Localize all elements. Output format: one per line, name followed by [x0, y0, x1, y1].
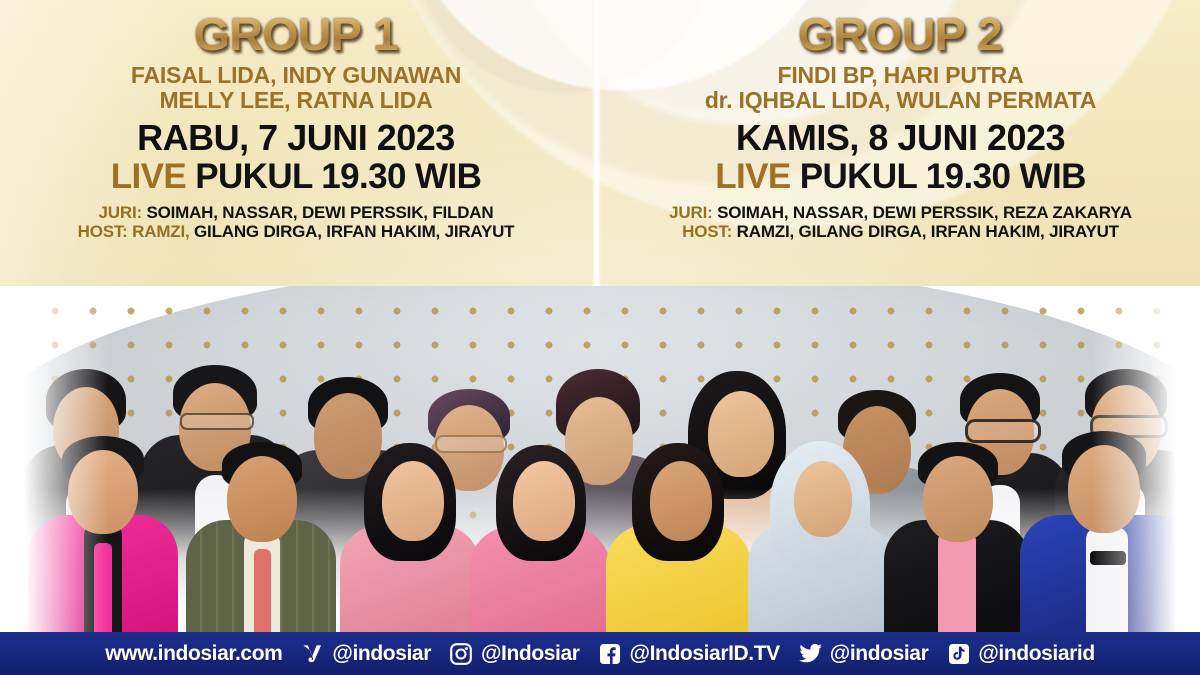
- panel-divider: [592, 0, 601, 291]
- footer-website[interactable]: www.indosiar.com: [105, 642, 282, 666]
- group-2-time: PUKUL 19.30 WIB: [791, 157, 1086, 196]
- footer-website-label: www.indosiar.com: [105, 642, 282, 666]
- group-2-members-line-1: FINDI BP, HARI PUTRA: [705, 63, 1096, 88]
- cast-member-photo: [470, 437, 610, 635]
- tiktok-icon: [946, 641, 971, 666]
- group-1-date: RABU, 7 JUNI 2023: [137, 118, 455, 158]
- cast-member-photo: [1020, 423, 1200, 635]
- cast-member-photo: [748, 435, 893, 635]
- group-2-date: KAMIS, 8 JUNI 2023: [736, 118, 1065, 158]
- group-2-juri-label: JURI:: [669, 203, 712, 222]
- cast-face: [382, 461, 444, 541]
- cast-member-photo: [884, 430, 1029, 635]
- cast-member-photo: [340, 435, 480, 635]
- footer-link-facebook[interactable]: @IndosiarID.TV: [598, 641, 780, 666]
- group-1-live-label: LIVE: [111, 157, 186, 196]
- group-1-title: GROUP 1: [194, 12, 398, 57]
- cast-tie: [94, 543, 112, 635]
- group-1-members-line-1: FAISAL LIDA, INDY GUNAWAN: [131, 63, 461, 88]
- cast-face: [650, 461, 712, 541]
- group-2-juri-names: SOIMAH, NASSAR, DEWI PERSSIK, REZA ZAKAR…: [713, 203, 1132, 222]
- group-2-members: FINDI BP, HARI PUTRA dr. IQHBAL LIDA, WU…: [705, 63, 1096, 113]
- group-2-panel: GROUP 2 FINDI BP, HARI PUTRA dr. IQHBAL …: [601, 0, 1200, 291]
- poster: GROUP 1 FAISAL LIDA, INDY GUNAWAN MELLY …: [0, 0, 1200, 675]
- footer-link-twitter[interactable]: @indosiar: [798, 641, 929, 666]
- footer-facebook-handle: @IndosiarID.TV: [630, 642, 780, 666]
- footer-link-vidio[interactable]: @indosiar: [300, 641, 431, 666]
- group-1-juri-row: JURI: SOIMAH, NASSAR, DEWI PERSSIK, FILD…: [78, 203, 515, 222]
- cast-face: [794, 461, 852, 537]
- group-1-credits: JURI: SOIMAH, NASSAR, DEWI PERSSIK, FILD…: [78, 203, 515, 241]
- group-1-host-names: GILANG DIRGA, IRFAN HAKIM, JIRAYUT: [190, 222, 515, 241]
- cast-tie: [254, 549, 271, 635]
- group-2-title: GROUP 2: [798, 12, 1002, 57]
- group-2-juri-row: JURI: SOIMAH, NASSAR, DEWI PERSSIK, REZA…: [669, 203, 1132, 222]
- cast-face: [513, 461, 575, 541]
- cast-face: [923, 456, 993, 542]
- cast-face: [68, 450, 138, 534]
- group-2-host-names: RAMZI, GILANG DIRGA, IRFAN HAKIM, JIRAYU…: [732, 222, 1119, 241]
- social-footer-bar: www.indosiar.com @indosiar @Indosiar: [0, 632, 1200, 675]
- group-1-members: FAISAL LIDA, INDY GUNAWAN MELLY LEE, RAT…: [131, 63, 461, 113]
- footer-vidio-handle: @indosiar: [332, 642, 431, 666]
- cast-bowtie: [1090, 551, 1126, 565]
- group-1-live-time: LIVE PUKUL 19.30 WIB: [111, 157, 482, 196]
- group-2-host-row: HOST: RAMZI, GILANG DIRGA, IRFAN HAKIM, …: [669, 222, 1132, 241]
- cast-member-photo: [186, 430, 336, 635]
- group-2-members-line-2: dr. IQHBAL LIDA, WULAN PERMATA: [705, 88, 1096, 113]
- cast-face: [227, 456, 297, 542]
- group-1-juri-label: JURI:: [99, 203, 142, 222]
- footer-twitter-handle: @indosiar: [830, 642, 929, 666]
- group-1-members-line-2: MELLY LEE, RATNA LIDA: [131, 88, 461, 113]
- facebook-icon: [598, 641, 623, 666]
- group-1-host-label: HOST:: [78, 222, 128, 241]
- footer-instagram-handle: @Indosiar: [481, 642, 580, 666]
- group-2-host-label: HOST:: [682, 222, 732, 241]
- cast-member-photo: [28, 420, 178, 635]
- footer-link-instagram[interactable]: @Indosiar: [449, 641, 580, 666]
- group-1-juri-names: SOIMAH, NASSAR, DEWI PERSSIK, FILDAN: [142, 203, 494, 222]
- twitter-icon: [798, 641, 823, 666]
- group-1-host-row: HOST: RAMZI, GILANG DIRGA, IRFAN HAKIM, …: [78, 222, 515, 241]
- footer-tiktok-handle: @indosiarid: [978, 642, 1094, 666]
- group-2-credits: JURI: SOIMAH, NASSAR, DEWI PERSSIK, REZA…: [669, 203, 1132, 241]
- cast-face: [1068, 445, 1140, 533]
- group-1-host-lead: RAMZI,: [128, 222, 190, 241]
- cast-shirt: [938, 531, 976, 635]
- cast-photo-band: [0, 286, 1200, 635]
- group-1-time: PUKUL 19.30 WIB: [186, 157, 481, 196]
- cast-shirt: [1086, 527, 1128, 635]
- group-2-live-label: LIVE: [715, 157, 790, 196]
- cast-member-photo: [606, 435, 751, 635]
- vidio-icon: [300, 641, 325, 666]
- group-2-live-time: LIVE PUKUL 19.30 WIB: [715, 157, 1086, 196]
- footer-link-tiktok[interactable]: @indosiarid: [946, 641, 1094, 666]
- instagram-icon: [449, 641, 474, 666]
- group-1-panel: GROUP 1 FAISAL LIDA, INDY GUNAWAN MELLY …: [0, 0, 592, 291]
- cast-glasses-icon: [180, 413, 254, 430]
